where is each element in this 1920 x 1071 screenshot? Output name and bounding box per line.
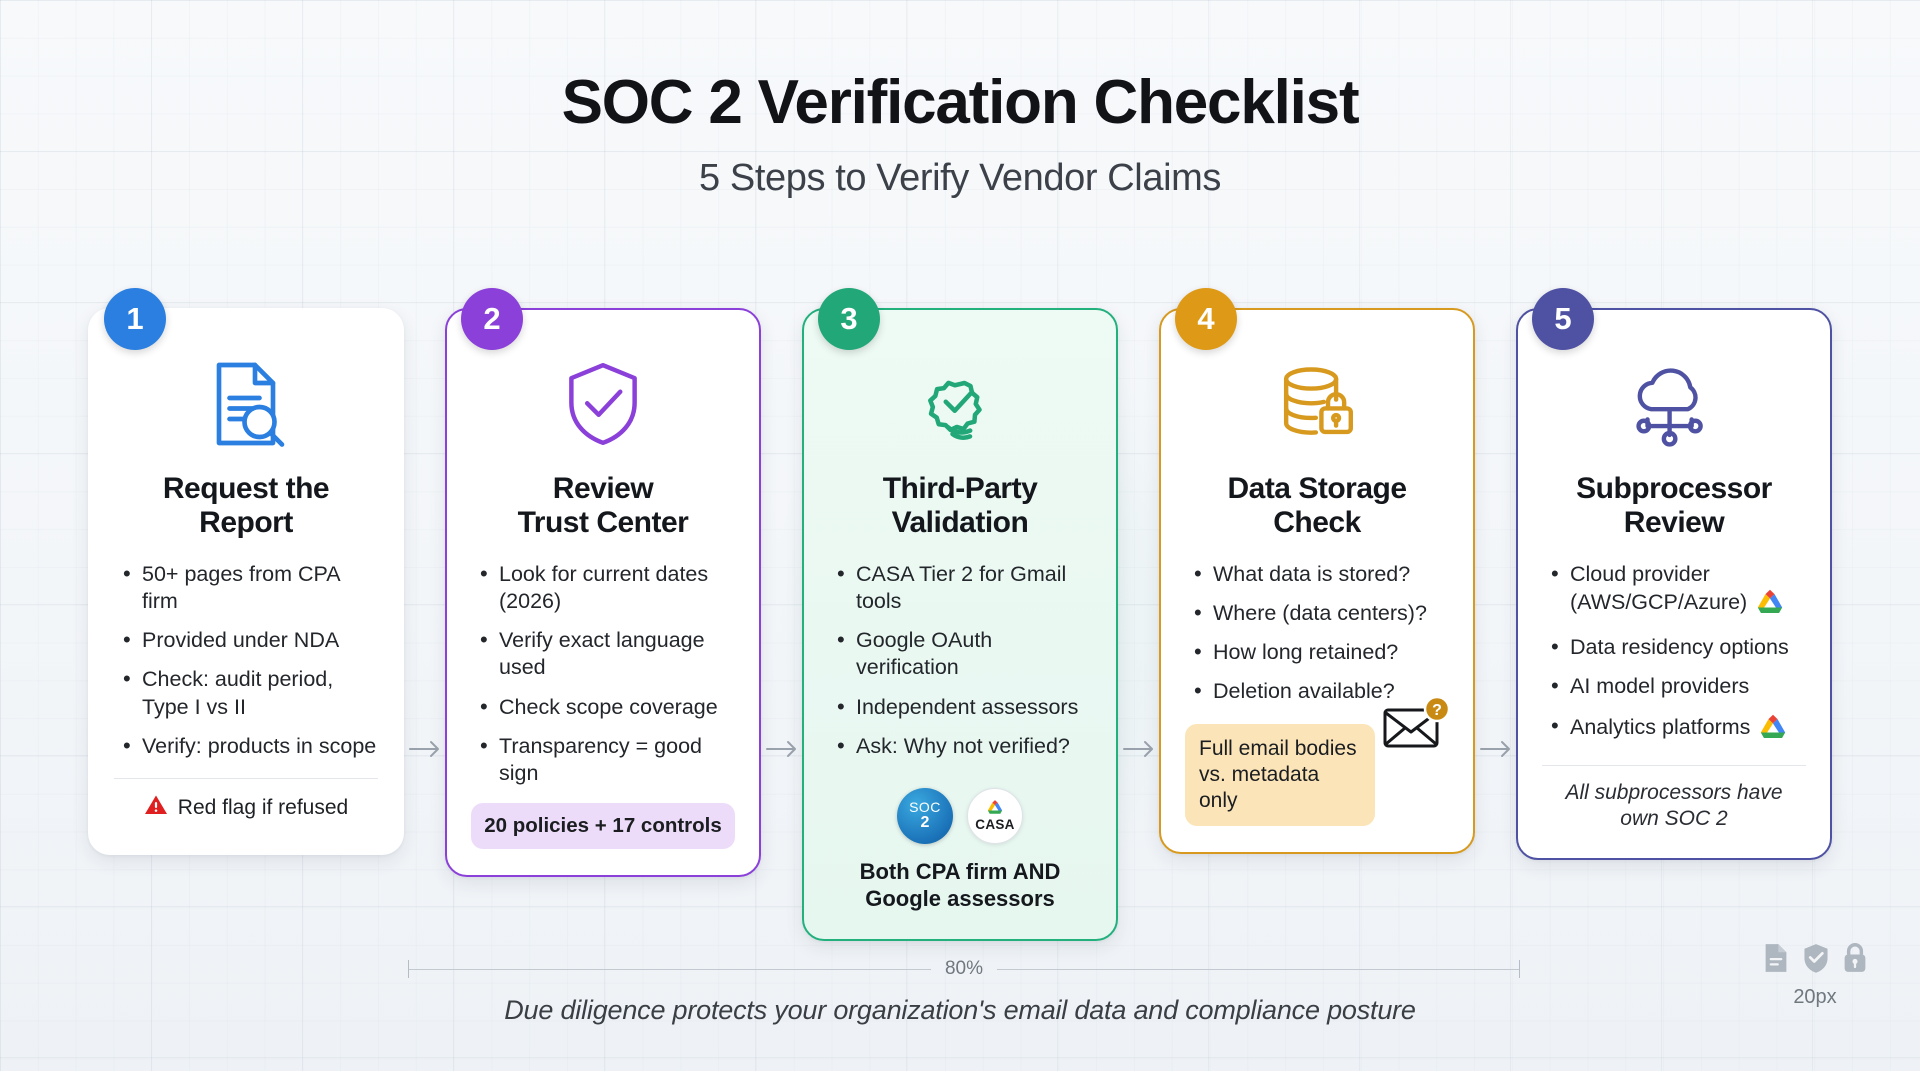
step-bullets-3: CASA Tier 2 for Gmail tools Google OAuth… <box>828 561 1092 771</box>
step-pill-2: 20 policies + 17 controls <box>471 803 735 849</box>
step-card-5[interactable]: 5 Subprocessor Review Cloud provider (AW… <box>1516 308 1832 860</box>
document-search-icon <box>114 352 378 456</box>
step-title-3: Third-Party Validation <box>828 472 1092 539</box>
step-number-badge-2: 2 <box>461 288 523 350</box>
lock-icon <box>1842 943 1868 978</box>
casa-badge: CASA <box>967 788 1023 844</box>
scale-line-right <box>997 969 1519 970</box>
google-cloud-logo <box>1756 713 1790 747</box>
scale-tick-right <box>1519 960 1520 978</box>
page-title: SOC 2 Verification Checklist <box>0 70 1920 135</box>
list-item: How long retained? <box>1191 639 1449 666</box>
steps-row: 1 Request the Report 50+ pages from CPA … <box>88 308 1832 941</box>
list-item: CASA Tier 2 for Gmail tools <box>834 561 1092 615</box>
certified-seal-icon <box>828 352 1092 456</box>
shield-check-icon <box>471 352 735 456</box>
list-item: Provided under NDA <box>120 627 378 654</box>
step-bullets-5: Cloud provider (AWS/GCP/Azure) Data resi… <box>1542 561 1806 758</box>
legend-label: 20px <box>1762 986 1868 1009</box>
list-item-label: Cloud provider (AWS/GCP/Azure) <box>1570 562 1747 614</box>
scale-line-left <box>409 969 931 970</box>
legend-icons <box>1762 943 1868 978</box>
arrow-right-icon <box>764 739 800 759</box>
step-card-2[interactable]: 2 Review Trust Center Look for current d… <box>445 308 761 877</box>
shield-check-icon <box>1802 943 1830 978</box>
step-callout-4: Full email bodies vs. metadata only <box>1185 724 1375 827</box>
list-item: Check scope coverage <box>477 694 735 721</box>
soc2-badge: SOC 2 <box>897 788 953 844</box>
list-item: Cloud provider (AWS/GCP/Azure) <box>1548 561 1806 622</box>
step-bullets-2: Look for current dates (2026) Verify exa… <box>471 561 735 799</box>
list-item: Verify: products in scope <box>120 733 378 760</box>
svg-text:?: ? <box>1432 702 1442 719</box>
list-item-label: Analytics platforms <box>1570 715 1750 739</box>
step-title-5: Subprocessor Review <box>1542 472 1806 539</box>
arrow-right-icon <box>407 739 443 759</box>
google-cloud-logo <box>985 799 1005 815</box>
casa-badge-label: CASA <box>975 817 1014 832</box>
arrow-right-icon <box>1121 739 1157 759</box>
step-card-1[interactable]: 1 Request the Report 50+ pages from CPA … <box>88 308 404 855</box>
step-emphasis-3: Both CPA firm AND Google assessors <box>828 858 1092 913</box>
step-title-4: Data Storage Check <box>1185 472 1449 539</box>
step-footer-label-1: Red flag if refused <box>178 796 348 820</box>
cloud-network-icon <box>1542 352 1806 456</box>
step-number-badge-4: 4 <box>1175 288 1237 350</box>
list-item: Analytics platforms <box>1548 713 1806 747</box>
list-item: What data is stored? <box>1191 561 1449 588</box>
step-card-3[interactable]: 3 Third-Party Validation CASA Tier 2 for… <box>802 308 1118 941</box>
list-item: AI model providers <box>1548 673 1806 700</box>
list-item: Verify exact language used <box>477 627 735 681</box>
database-lock-icon <box>1185 352 1449 456</box>
list-item: Look for current dates (2026) <box>477 561 735 615</box>
soc2-badge-line1: SOC <box>909 800 941 814</box>
step-footer-1: Red flag if refused <box>114 793 378 827</box>
scale-percent-label: 80% <box>931 958 997 980</box>
arrow-right-icon <box>1478 739 1514 759</box>
step-bullets-4: What data is stored? Where (data centers… <box>1185 561 1449 717</box>
envelope-question-icon: ? <box>1379 696 1453 759</box>
list-item: Data residency options <box>1548 634 1806 661</box>
step-italic-note-5: All subprocessors have own SOC 2 <box>1542 780 1806 833</box>
step-title-2: Review Trust Center <box>471 472 735 539</box>
scale-bar: 80% <box>408 955 1520 983</box>
step-title-1: Request the Report <box>114 472 378 539</box>
footer-tagline: Due diligence protects your organization… <box>0 995 1920 1026</box>
certification-badges: SOC 2 CASA <box>828 788 1092 844</box>
step-bullets-1: 50+ pages from CPA firm Provided under N… <box>114 561 378 771</box>
soc2-badge-line2: 2 <box>921 815 930 831</box>
page-subtitle: 5 Steps to Verify Vendor Claims <box>0 157 1920 200</box>
list-item: 50+ pages from CPA firm <box>120 561 378 615</box>
document-icon <box>1762 943 1790 978</box>
step-number-badge-1: 1 <box>104 288 166 350</box>
step-number-badge-3: 3 <box>818 288 880 350</box>
divider <box>1542 765 1806 766</box>
list-item: Check: audit period, Type I vs II <box>120 666 378 720</box>
warning-triangle-icon <box>144 793 168 823</box>
step-number-badge-5: 5 <box>1532 288 1594 350</box>
list-item: Where (data centers)? <box>1191 600 1449 627</box>
list-item: Ask: Why not verified? <box>834 733 1092 760</box>
divider <box>114 778 378 779</box>
google-cloud-logo <box>1753 588 1787 622</box>
list-item: Transparency = good sign <box>477 733 735 787</box>
list-item: Google OAuth verification <box>834 627 1092 681</box>
list-item: Independent assessors <box>834 694 1092 721</box>
legend: 20px <box>1762 943 1868 1009</box>
header: SOC 2 Verification Checklist 5 Steps to … <box>0 0 1920 200</box>
step-card-4[interactable]: 4 Data Storage Check What data is stored… <box>1159 308 1475 854</box>
